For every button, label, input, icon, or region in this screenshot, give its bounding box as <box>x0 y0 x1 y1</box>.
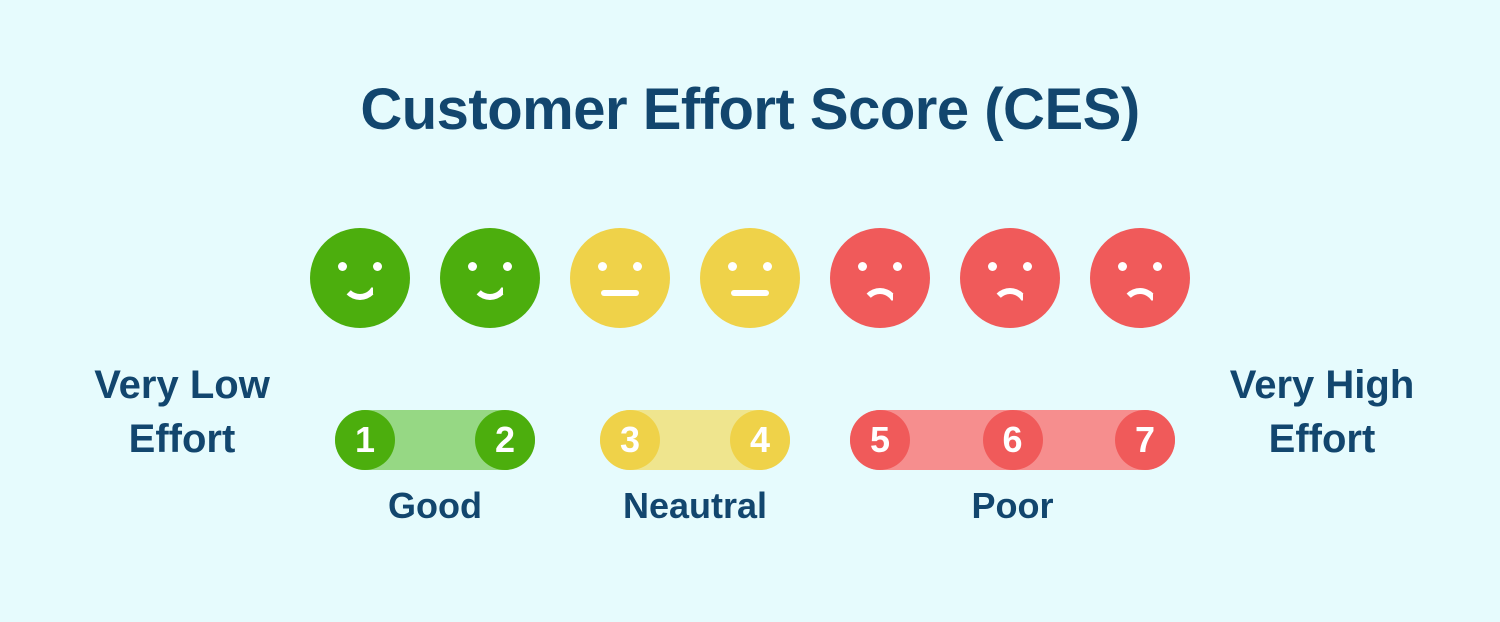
eye-left <box>598 262 607 271</box>
faces-row <box>310 228 1190 328</box>
eye-right <box>1023 262 1032 271</box>
mouth-flat <box>731 290 769 296</box>
scale-group-poor: 5 6 7 Poor <box>850 410 1175 470</box>
smiley-happy-icon <box>310 228 410 328</box>
scale-caption-neutral: Neautral <box>600 488 790 524</box>
mouth-smile <box>471 280 509 300</box>
scale-point-4[interactable]: 4 <box>730 410 790 470</box>
eye-left <box>858 262 867 271</box>
eye-right <box>373 262 382 271</box>
very-low-effort-line1: Very Low <box>32 358 332 412</box>
mouth-frown <box>991 288 1029 308</box>
smiley-neutral-icon <box>700 228 800 328</box>
eye-left <box>338 262 347 271</box>
very-high-effort-line2: Effort <box>1172 412 1472 466</box>
scale-caption-good: Good <box>335 488 535 524</box>
eye-left <box>1118 262 1127 271</box>
eye-left <box>728 262 737 271</box>
eye-right <box>633 262 642 271</box>
page-title: Customer Effort Score (CES) <box>0 78 1500 142</box>
mouth-flat <box>601 290 639 296</box>
scale-track-neutral[interactable]: 3 4 <box>600 410 790 470</box>
scale-point-5[interactable]: 5 <box>850 410 910 470</box>
very-low-effort-line2: Effort <box>32 412 332 466</box>
eye-right <box>893 262 902 271</box>
mouth-frown <box>861 288 899 308</box>
mouth-frown <box>1121 288 1159 308</box>
smiley-neutral-icon <box>570 228 670 328</box>
smiley-sad-icon <box>960 228 1060 328</box>
eye-right <box>503 262 512 271</box>
eye-left <box>468 262 477 271</box>
eye-right <box>763 262 772 271</box>
smiley-happy-icon <box>440 228 540 328</box>
eye-right <box>1153 262 1162 271</box>
scale-caption-poor: Poor <box>850 488 1175 524</box>
very-high-effort-line1: Very High <box>1172 358 1472 412</box>
scale-point-2[interactable]: 2 <box>475 410 535 470</box>
scale-point-7[interactable]: 7 <box>1115 410 1175 470</box>
smiley-sad-icon <box>830 228 930 328</box>
scale-point-1[interactable]: 1 <box>335 410 395 470</box>
scale-track-poor[interactable]: 5 6 7 <box>850 410 1175 470</box>
very-high-effort-label: Very High Effort <box>1172 358 1472 466</box>
scale-point-6[interactable]: 6 <box>983 410 1043 470</box>
mouth-smile <box>341 280 379 300</box>
scale-group-good: 1 2 Good <box>335 410 535 470</box>
scale-point-3[interactable]: 3 <box>600 410 660 470</box>
eye-left <box>988 262 997 271</box>
ces-infographic: Customer Effort Score (CES) <box>0 0 1500 622</box>
scale-track-good[interactable]: 1 2 <box>335 410 535 470</box>
smiley-sad-icon <box>1090 228 1190 328</box>
scale-group-neutral: 3 4 Neautral <box>600 410 790 470</box>
very-low-effort-label: Very Low Effort <box>32 358 332 466</box>
